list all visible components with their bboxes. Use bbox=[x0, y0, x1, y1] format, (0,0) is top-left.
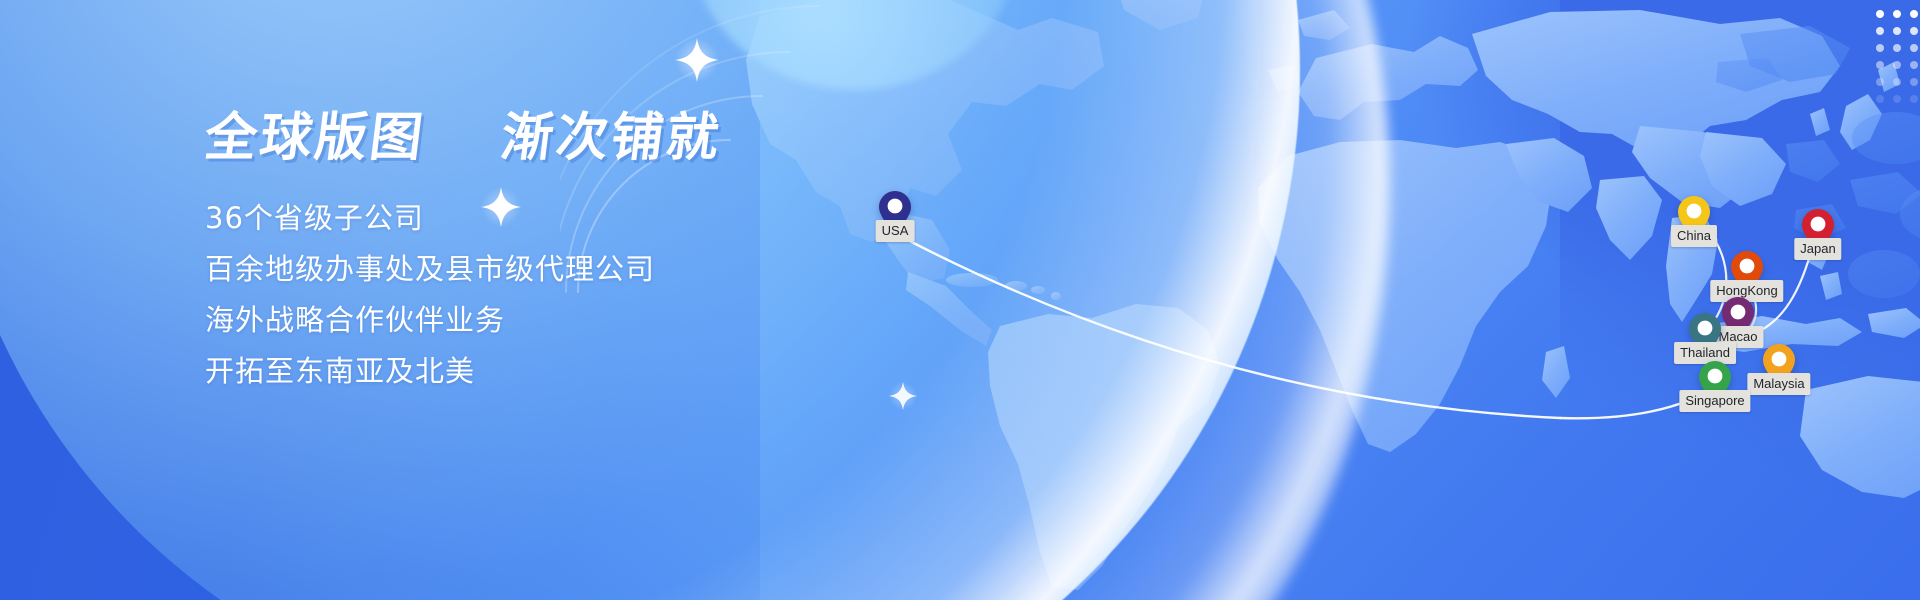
map-marker-usa[interactable]: USA bbox=[878, 190, 912, 234]
map-marker-japan[interactable]: Japan bbox=[1801, 208, 1835, 252]
grid-dot bbox=[1893, 44, 1901, 52]
grid-dot bbox=[1910, 95, 1918, 103]
map-marker-hongkong[interactable]: HongKong bbox=[1730, 250, 1764, 294]
grid-dot bbox=[1910, 78, 1918, 86]
map-marker-label: USA bbox=[876, 220, 915, 242]
subtitle-line-3: 海外战略合作伙伴业务 bbox=[205, 295, 845, 346]
page-title: 全球版图 渐次铺就 bbox=[201, 110, 848, 167]
grid-dot bbox=[1876, 44, 1884, 52]
map-marker-malaysia[interactable]: Malaysia bbox=[1762, 343, 1796, 387]
subtitle-line-4: 开拓至东南亚及北美 bbox=[205, 346, 845, 397]
title-part-2: 渐次铺就 bbox=[498, 108, 725, 168]
map-marker-singapore[interactable]: Singapore bbox=[1698, 360, 1732, 404]
grid-dot bbox=[1876, 27, 1884, 35]
grid-dot bbox=[1876, 95, 1884, 103]
headline-block: 全球版图 渐次铺就 36个省级子公司 百余地级办事处及县市级代理公司 海外战略合… bbox=[205, 110, 845, 397]
grid-dot bbox=[1893, 78, 1901, 86]
headline-subtitle-list: 36个省级子公司 百余地级办事处及县市级代理公司 海外战略合作伙伴业务 开拓至东… bbox=[205, 193, 845, 397]
grid-dot bbox=[1893, 61, 1901, 69]
subtitle-line-1: 36个省级子公司 bbox=[205, 193, 845, 244]
grid-dot bbox=[1876, 61, 1884, 69]
map-marker-label: Malaysia bbox=[1747, 373, 1810, 395]
grid-dot bbox=[1876, 10, 1884, 18]
map-marker-label: Singapore bbox=[1679, 390, 1750, 412]
grid-dot bbox=[1876, 78, 1884, 86]
grid-dot bbox=[1910, 27, 1918, 35]
title-part-1: 全球版图 bbox=[201, 108, 428, 168]
grid-dot bbox=[1893, 27, 1901, 35]
map-marker-china[interactable]: China bbox=[1677, 195, 1711, 239]
map-marker-thailand[interactable]: Thailand bbox=[1688, 312, 1722, 356]
global-map-banner: 全球版图 渐次铺就 36个省级子公司 百余地级办事处及县市级代理公司 海外战略合… bbox=[0, 0, 1920, 600]
grid-dot bbox=[1910, 10, 1918, 18]
grid-dot bbox=[1893, 95, 1901, 103]
subtitle-line-2: 百余地级办事处及县市级代理公司 bbox=[205, 244, 845, 295]
grid-dot bbox=[1893, 10, 1901, 18]
grid-dot bbox=[1910, 44, 1918, 52]
map-marker-label: Japan bbox=[1794, 238, 1841, 260]
map-marker-label: China bbox=[1671, 225, 1717, 247]
grid-dot bbox=[1910, 61, 1918, 69]
map-marker-macao[interactable]: Macao bbox=[1721, 296, 1755, 340]
